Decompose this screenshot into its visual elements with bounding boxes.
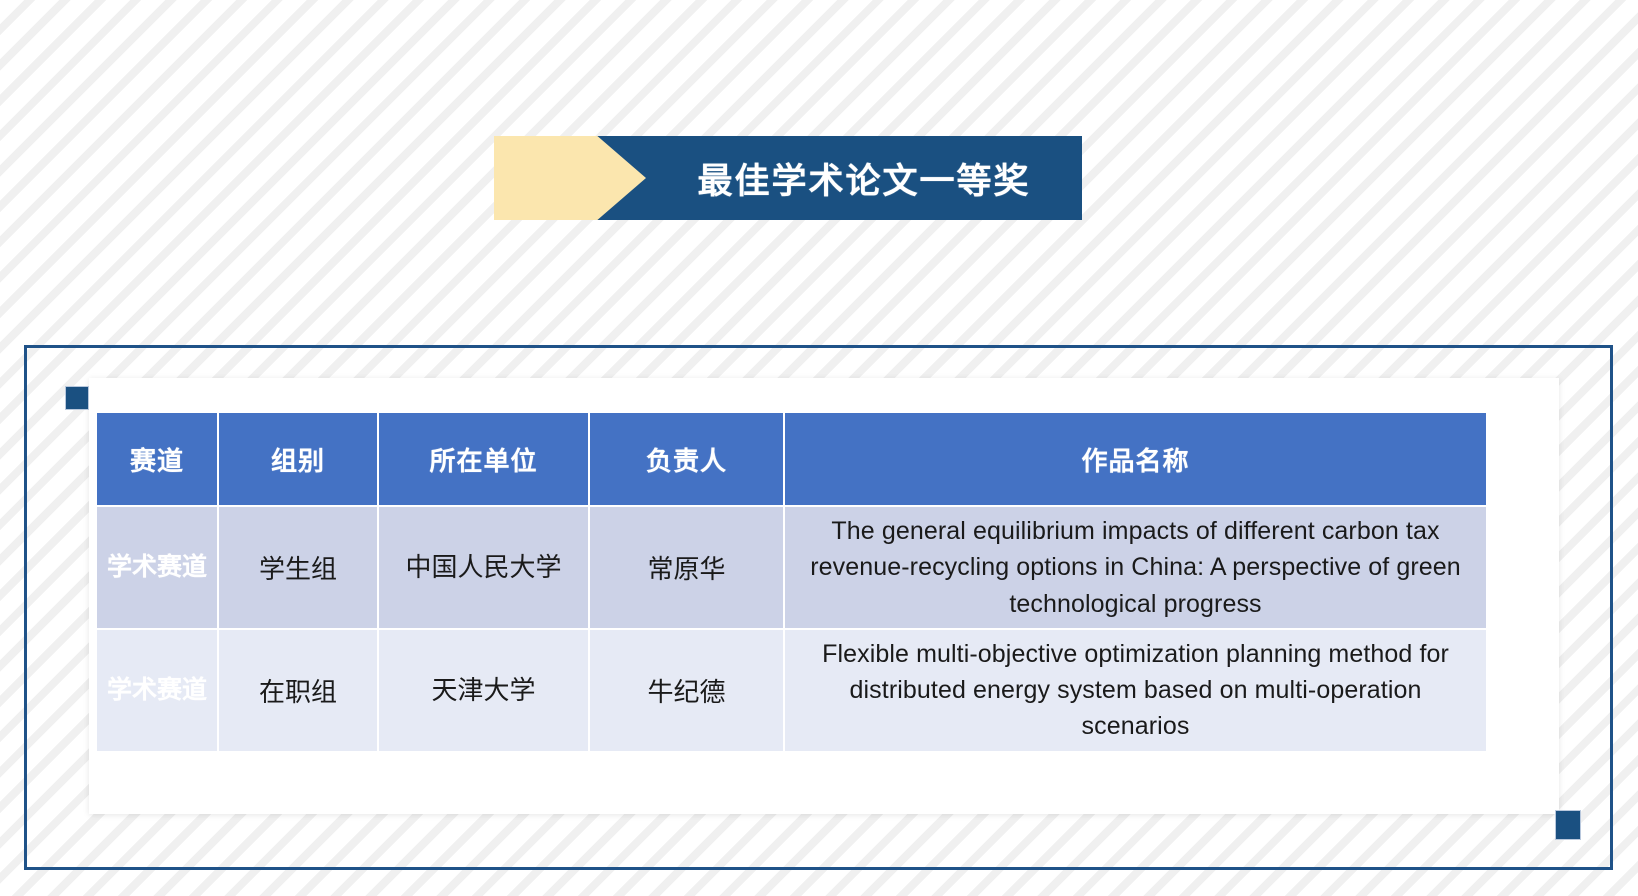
table-row: 学术赛道 学生组 中国人民大学 常原华 The general equilibr…	[97, 507, 1486, 628]
slide-root: 最佳学术论文一等奖 赛道 组别 所在单位 负责人 作品名称 学术赛道 学生组 中…	[0, 0, 1638, 896]
award-title: 最佳学术论文一等奖	[646, 136, 1082, 220]
cell-work: Flexible multi-objective optimization pl…	[785, 630, 1486, 751]
table-row: 学术赛道 在职组 天津大学 牛纪德 Flexible multi-objecti…	[97, 630, 1486, 751]
cell-unit: 中国人民大学	[379, 507, 588, 628]
award-banner: 最佳学术论文一等奖	[494, 136, 1082, 220]
table-header: 赛道 组别 所在单位 负责人 作品名称	[97, 413, 1486, 505]
column-header-group: 组别	[219, 413, 377, 505]
award-table: 赛道 组别 所在单位 负责人 作品名称 学术赛道 学生组 中国人民大学 常原华 …	[95, 411, 1488, 753]
cell-work: The general equilibrium impacts of diffe…	[785, 507, 1486, 628]
decor-square-bottom-right	[1555, 810, 1581, 840]
cell-unit: 天津大学	[379, 630, 588, 751]
column-header-work: 作品名称	[785, 413, 1486, 505]
column-header-track: 赛道	[97, 413, 217, 505]
cell-leader: 牛纪德	[590, 630, 783, 751]
cell-group: 学生组	[219, 507, 377, 628]
cell-track: 学术赛道	[97, 507, 217, 628]
table-header-row: 赛道 组别 所在单位 负责人 作品名称	[97, 413, 1486, 505]
cell-leader: 常原华	[590, 507, 783, 628]
column-header-leader: 负责人	[590, 413, 783, 505]
table-body: 学术赛道 学生组 中国人民大学 常原华 The general equilibr…	[97, 507, 1486, 751]
column-header-unit: 所在单位	[379, 413, 588, 505]
decor-square-top-left	[65, 386, 89, 410]
cell-group: 在职组	[219, 630, 377, 751]
cell-track: 学术赛道	[97, 630, 217, 751]
